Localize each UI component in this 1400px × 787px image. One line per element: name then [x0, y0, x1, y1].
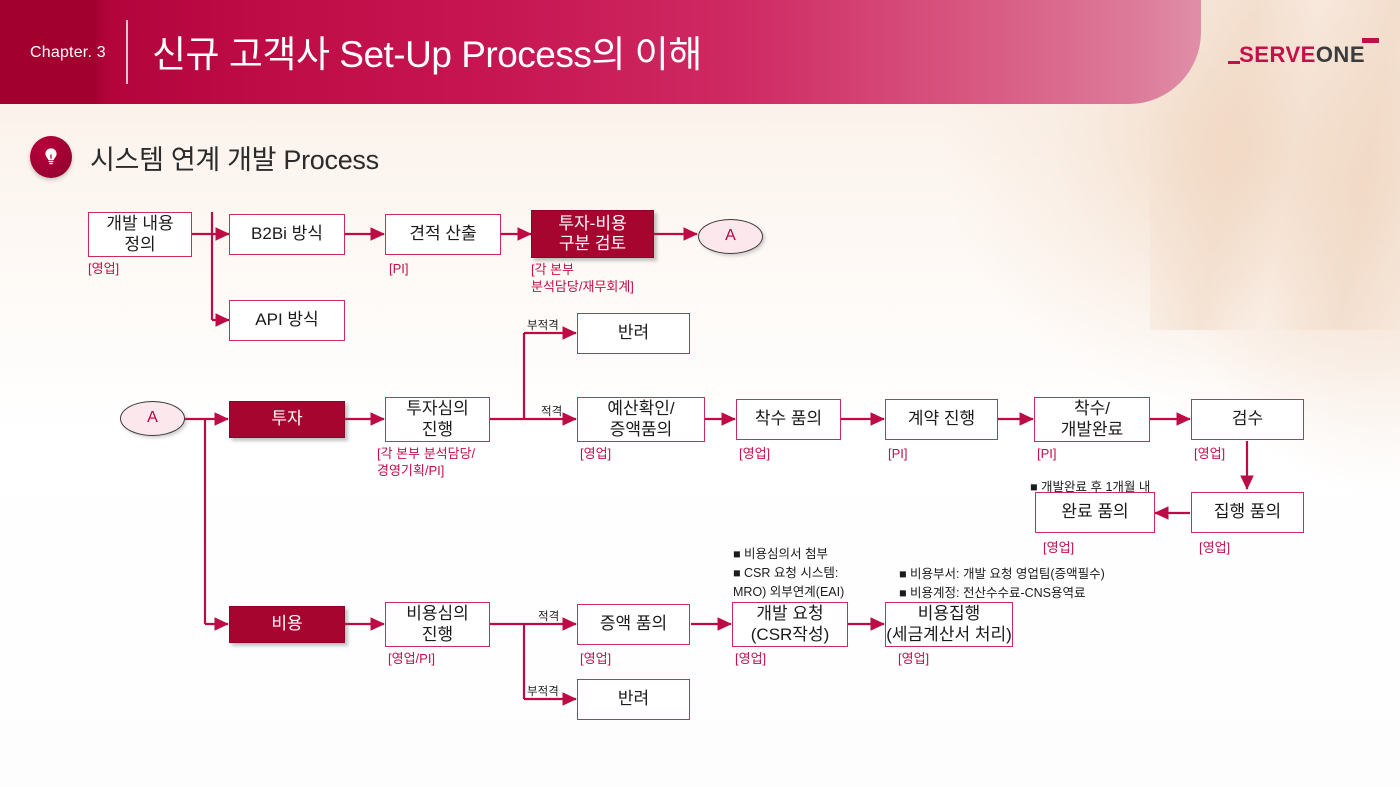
node-cost-execution[interactable]: 비용집행 (세금계산서 처리)	[885, 602, 1013, 647]
caption-budget-check: [영업]	[580, 446, 611, 463]
node-b2bi[interactable]: B2Bi 방식	[229, 214, 345, 255]
edge-label-reject-bottom: 부적격	[527, 683, 559, 699]
caption-quote: [PI]	[389, 261, 409, 278]
caption-dev-request: [영업]	[735, 651, 766, 668]
caption-increase-approval: [영업]	[580, 651, 611, 668]
caption-execution-approval: [영업]	[1199, 540, 1230, 557]
node-connector-a-in[interactable]: A	[120, 401, 185, 436]
node-dev-request[interactable]: 개발 요청 (CSR작성)	[732, 602, 848, 647]
caption-cost-review: [영업/PI]	[388, 651, 435, 668]
node-inspection[interactable]: 검수	[1191, 399, 1304, 440]
caption-completion-approval: [영업]	[1043, 540, 1074, 557]
node-reject-top[interactable]: 반려	[577, 313, 690, 354]
caption-dev-content: [영업]	[88, 261, 119, 278]
node-execution-approval[interactable]: 집행 품의	[1191, 492, 1304, 533]
caption-dev-complete: [PI]	[1037, 446, 1057, 463]
node-invest-cost-review[interactable]: 투자-비용 구분 검토	[531, 210, 654, 258]
node-invest[interactable]: 투자	[229, 401, 345, 438]
note-cost: ■ 비용부서: 개발 요청 영업팀(증액필수) ■ 비용계정: 전산수수료-CN…	[899, 565, 1105, 603]
node-quote[interactable]: 견적 산출	[385, 214, 501, 255]
caption-start-approval: [영업]	[739, 446, 770, 463]
node-start-approval[interactable]: 착수 품의	[736, 399, 841, 440]
caption-invest-review: [각 본부 분석담당/ 경영기획/PI]	[377, 446, 475, 479]
node-connector-a-out[interactable]: A	[698, 219, 763, 254]
edge-label-pass-top: 적격	[541, 403, 562, 419]
node-contract[interactable]: 계약 진행	[885, 399, 998, 440]
node-cost[interactable]: 비용	[229, 606, 345, 643]
caption-inspection: [영업]	[1194, 446, 1225, 463]
process-flow-diagram: 개발 내용 정의 [영업] B2Bi 방식 API 방식 견적 산출 [PI] …	[0, 0, 1400, 787]
note-csr: ■ 비용심의서 첨부 ■ CSR 요청 시스템: MRO) 외부연계(EAI)	[733, 545, 844, 601]
caption-contract: [PI]	[888, 446, 908, 463]
node-invest-review[interactable]: 투자심의 진행	[385, 397, 490, 442]
node-cost-review[interactable]: 비용심의 진행	[385, 602, 490, 647]
flow-connectors	[0, 0, 1400, 787]
edge-label-pass-bottom: 적격	[538, 608, 559, 624]
note-completion: ■ 개발완료 후 1개월 내	[1030, 478, 1150, 497]
caption-invest-cost-review: [각 본부 분석담당/재무회계]	[531, 262, 634, 295]
edge-label-reject-top: 부적격	[527, 317, 559, 333]
node-dev-complete[interactable]: 착수/ 개발완료	[1034, 397, 1150, 442]
node-budget-check[interactable]: 예산확인/ 증액품의	[577, 397, 705, 442]
node-api[interactable]: API 방식	[229, 300, 345, 341]
node-completion-approval[interactable]: 완료 품의	[1035, 492, 1155, 533]
node-increase-approval[interactable]: 증액 품의	[577, 604, 690, 645]
node-dev-content[interactable]: 개발 내용 정의	[88, 212, 192, 257]
node-reject-bottom[interactable]: 반려	[577, 679, 690, 720]
caption-cost-execution: [영업]	[898, 651, 929, 668]
